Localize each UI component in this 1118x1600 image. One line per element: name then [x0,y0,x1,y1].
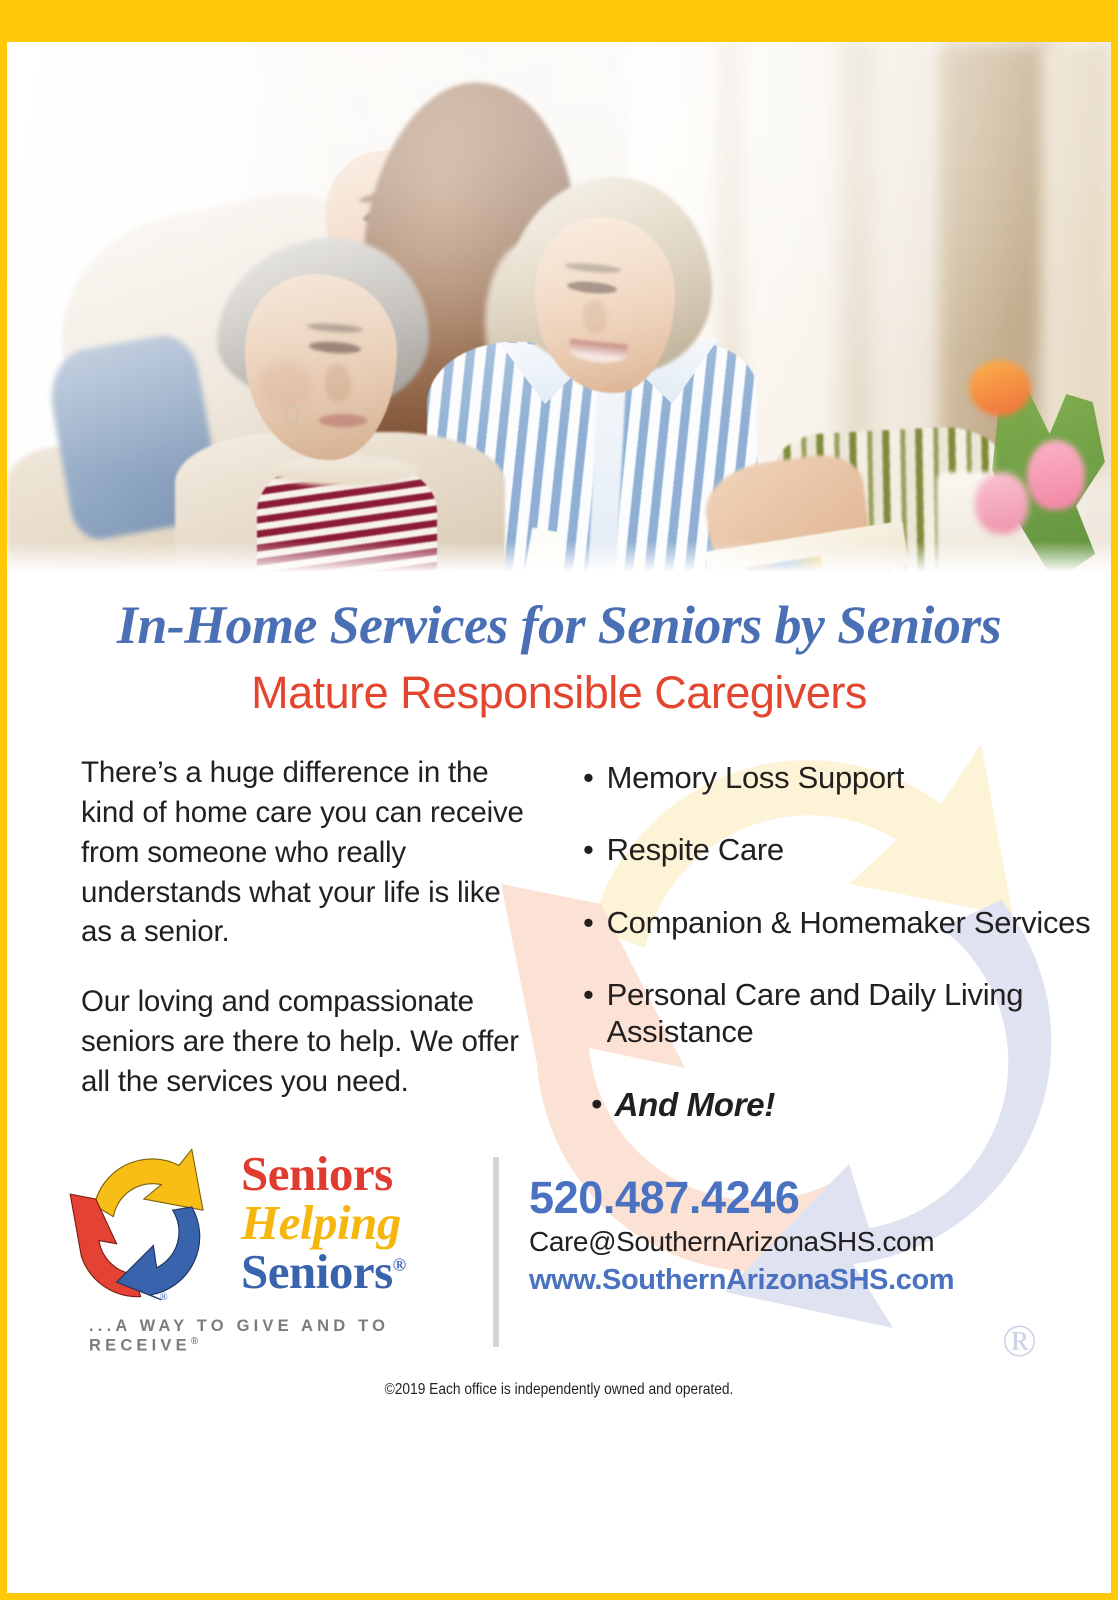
list-item: • Respite Care [583,831,1093,868]
legal-notice: ©2019 Each office is independently owned… [84,1381,1033,1399]
bullet-icon: • [583,904,594,941]
logo-wordmark: Seniors Helping Seniors® [241,1150,406,1295]
footer: ® Seniors Helping Seniors® ...A WAY TO G… [7,1143,1111,1356]
hero-photo [7,42,1111,575]
photo-light-overlay [7,42,1111,575]
bullet-icon: • [583,831,594,868]
services-list: • Memory Loss Support • Respite Care • C… [583,759,1093,1125]
email-address[interactable]: Care@SouthernArizonaSHS.com [529,1226,954,1258]
list-item: • Memory Loss Support [583,759,1093,796]
service-label: Companion & Homemaker Services [607,904,1091,941]
description-column: There’s a huge difference in the kind of… [25,753,537,1125]
logo-word-helping: Helping [241,1199,406,1246]
logo-tagline: ...A WAY TO GIVE AND TO RECEIVE® [89,1317,487,1356]
brand-logo: ® Seniors Helping Seniors® ...A WAY TO G… [67,1143,487,1356]
bullet-icon: • [583,759,594,796]
content-columns: There’s a huge difference in the kind of… [25,753,1093,1125]
flyer-root: ® In-Home Services for Seniors by Senior… [0,0,1118,1600]
flyer-content: In-Home Services for Seniors by Seniors … [7,597,1111,1125]
service-label: Personal Care and Daily Living Assistanc… [607,976,1093,1050]
services-column: • Memory Loss Support • Respite Care • C… [561,753,1093,1125]
bullet-icon: • [583,976,594,1013]
page-title: In-Home Services for Seniors by Seniors [25,597,1093,653]
logo-word-seniors-top: Seniors [241,1150,406,1197]
circular-arrows-logo-icon: ® [67,1143,227,1303]
logo-row: ® Seniors Helping Seniors® [67,1143,487,1303]
list-item: • Companion & Homemaker Services [583,904,1093,941]
logo-tagline-text: ...A WAY TO GIVE AND TO RECEIVE [89,1317,389,1355]
website-url[interactable]: www.SouthernArizonaSHS.com [529,1264,954,1297]
page-subtitle: Mature Responsible Caregivers [25,667,1093,719]
contact-block: 520.487.4246 Care@SouthernArizonaSHS.com… [499,1143,954,1298]
svg-text:®: ® [160,1291,168,1302]
photo-bottom-fade [7,541,1111,575]
phone-number[interactable]: 520.487.4246 [529,1173,954,1223]
list-item: • Personal Care and Daily Living Assista… [583,976,1093,1050]
logo-word-seniors-bottom: Seniors® [241,1248,406,1295]
registered-icon: ® [393,1255,406,1275]
description-paragraph-1: There’s a huge difference in the kind of… [81,753,527,952]
logo-word-text: Seniors [241,1244,393,1299]
description-paragraph-2: Our loving and compassionate seniors are… [81,982,527,1101]
registered-icon: ® [191,1336,198,1347]
bullet-icon: • [591,1085,602,1122]
service-label: Memory Loss Support [607,759,905,796]
service-label: And More! [615,1085,775,1125]
service-label: Respite Care [607,831,784,868]
list-item-and-more: • And More! [591,1085,1093,1125]
